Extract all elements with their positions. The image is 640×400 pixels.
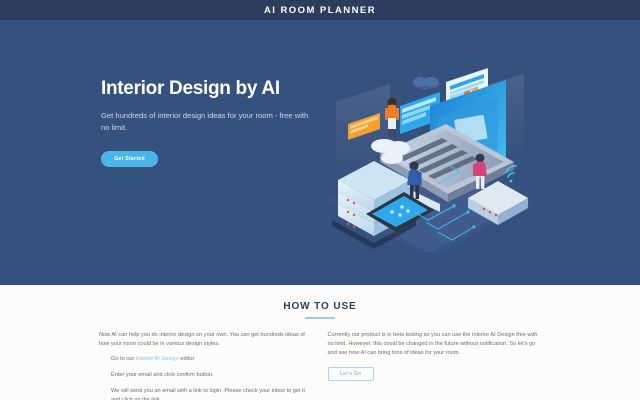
page-title: Interior Design by AI — [101, 78, 336, 100]
how-to-use-left-column: Now AI can help you do interior design o… — [99, 331, 316, 400]
hero-copy-block: Interior Design by AI Get hundreds of in… — [101, 78, 336, 167]
step-text-before: Go to our — [111, 356, 136, 362]
brand-logo-text[interactable]: AI ROOM PLANNER — [264, 5, 376, 16]
list-item: Go to our Interior AI Design editor — [111, 355, 316, 364]
get-started-button[interactable]: Get Started — [101, 151, 158, 167]
section-title: HOW TO USE — [0, 285, 640, 312]
list-item: Enter your email and click confirm butto… — [111, 371, 316, 380]
hero-section: Interior Design by AI Get hundreds of in… — [0, 20, 640, 285]
page-root: AI ROOM PLANNER Interior Design by AI Ge… — [0, 0, 640, 400]
step-text-after: editor — [179, 356, 195, 362]
lets-go-button[interactable]: Let's Go — [328, 367, 374, 381]
list-item: We will send you an email with a link to… — [111, 387, 316, 400]
hero-subtitle: Get hundreds of interior design ideas fo… — [101, 110, 316, 134]
beta-notice-paragraph: Currently our product is in beta testing… — [328, 331, 545, 358]
steps-list: Go to our Interior AI Design editor Ente… — [99, 355, 316, 400]
how-to-use-right-column: Currently our product is in beta testing… — [328, 331, 545, 400]
hero-illustration — [318, 62, 540, 252]
intro-paragraph: Now AI can help you do interior design o… — [99, 331, 316, 349]
cloud-icon — [413, 77, 439, 90]
interior-ai-design-link[interactable]: Interior AI Design — [136, 356, 179, 362]
top-navbar: AI ROOM PLANNER — [0, 0, 640, 20]
how-to-use-section: HOW TO USE Now AI can help you do interi… — [0, 285, 640, 400]
how-to-use-columns: Now AI can help you do interior design o… — [0, 319, 640, 400]
